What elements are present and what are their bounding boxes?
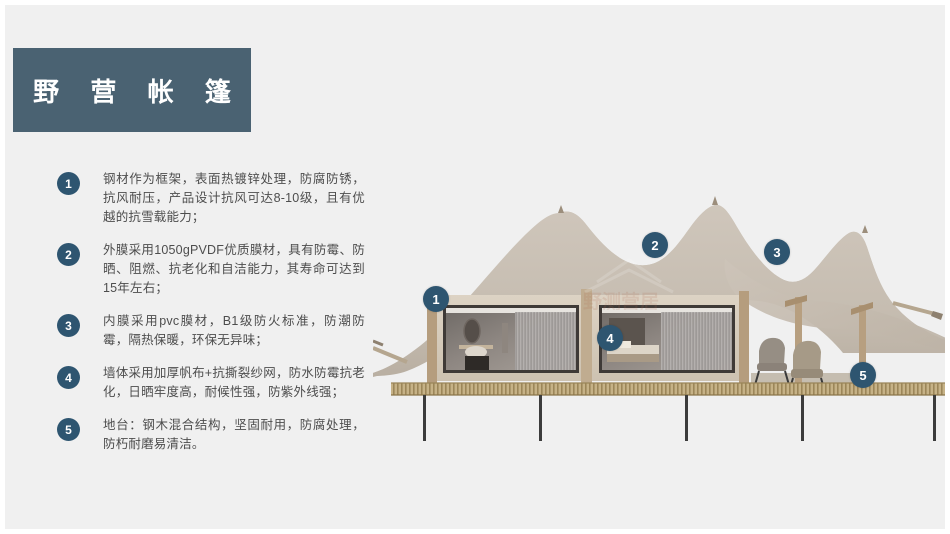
deck-platform <box>391 383 948 441</box>
corner-post-right <box>739 291 749 383</box>
page-title: 野 营 帐 篷 <box>21 72 243 109</box>
feature-text-4: 墙体采用加厚帆布+抗撕裂纱网，防水防霉抗老化，日晒牢度高，耐候性强，防紫外线强； <box>103 364 365 402</box>
curtain-bathroom <box>515 312 576 370</box>
callout-badge-1[interactable]: 1 <box>423 286 449 312</box>
tent-graphic <box>373 155 948 445</box>
bathroom-fixture <box>502 323 508 353</box>
feature-item-3: 3 内膜采用pvc膜材，B1级防火标准，防潮防霉，隔热保暖，环保无异味； <box>57 312 377 350</box>
tent-illustration <box>373 155 948 445</box>
corner-post-middle <box>581 289 592 383</box>
feature-text-5: 地台：钢木混合结构，坚固耐用，防腐处理，防朽耐磨易清洁。 <box>103 416 365 454</box>
feature-badge-3: 3 <box>57 314 80 337</box>
callout-badge-2[interactable]: 2 <box>642 232 668 258</box>
feature-text-2: 外膜采用1050gPVDF优质膜材，具有防霉、防晒、阻燃、抗老化和自洁能力，其寿… <box>103 241 365 298</box>
feature-item-4: 4 墙体采用加厚帆布+抗撕裂纱网，防水防霉抗老化，日晒牢度高，耐候性强，防紫外线… <box>57 364 377 402</box>
canopy-peak-tip-left <box>558 205 564 213</box>
bed-base <box>607 354 659 362</box>
title-banner: 野 营 帐 篷 <box>13 48 251 132</box>
callout-badge-3[interactable]: 3 <box>764 239 790 265</box>
tent-structure <box>427 289 749 383</box>
callout-badge-4[interactable]: 4 <box>597 325 623 351</box>
feature-list: 1 钢材作为框架，表面热镀锌处理，防腐防锈，抗风耐压，产品设计抗风可达8-10级… <box>57 170 377 468</box>
deck-leg-1 <box>423 395 426 441</box>
guy-arm-left <box>373 341 407 362</box>
deck-leg-5 <box>933 395 936 441</box>
feature-item-2: 2 外膜采用1050gPVDF优质膜材，具有防霉、防晒、阻燃、抗老化和自洁能力，… <box>57 241 377 298</box>
canopy-peak-tip-center <box>712 196 718 205</box>
bathroom-mirror <box>464 319 480 343</box>
deck-leg-3 <box>685 395 688 441</box>
feature-item-5: 5 地台：钢木混合结构，坚固耐用，防腐处理，防朽耐磨易清洁。 <box>57 416 377 454</box>
feature-text-3: 内膜采用pvc膜材，B1级防火标准，防潮防霉，隔热保暖，环保无异味； <box>103 312 365 350</box>
feature-badge-2: 2 <box>57 243 80 266</box>
callout-badge-5[interactable]: 5 <box>850 362 876 388</box>
curtain-bedroom <box>661 312 732 370</box>
canopy-peak-tip-right <box>862 225 868 233</box>
feature-badge-5: 5 <box>57 418 80 441</box>
window-bathroom <box>443 305 579 373</box>
deck-leg-2 <box>539 395 542 441</box>
feature-badge-1: 1 <box>57 172 80 195</box>
deck-leg-4 <box>801 395 804 441</box>
feature-item-1: 1 钢材作为框架，表面热镀锌处理，防腐防锈，抗风耐压，产品设计抗风可达8-10级… <box>57 170 377 227</box>
feature-badge-4: 4 <box>57 366 80 389</box>
feature-text-1: 钢材作为框架，表面热镀锌处理，防腐防锈，抗风耐压，产品设计抗风可达8-10级，且… <box>103 170 365 227</box>
bathroom-cabinet <box>465 356 489 370</box>
slide-page: 野 营 帐 篷 1 钢材作为框架，表面热镀锌处理，防腐防锈，抗风耐压，产品设计抗… <box>0 0 950 534</box>
